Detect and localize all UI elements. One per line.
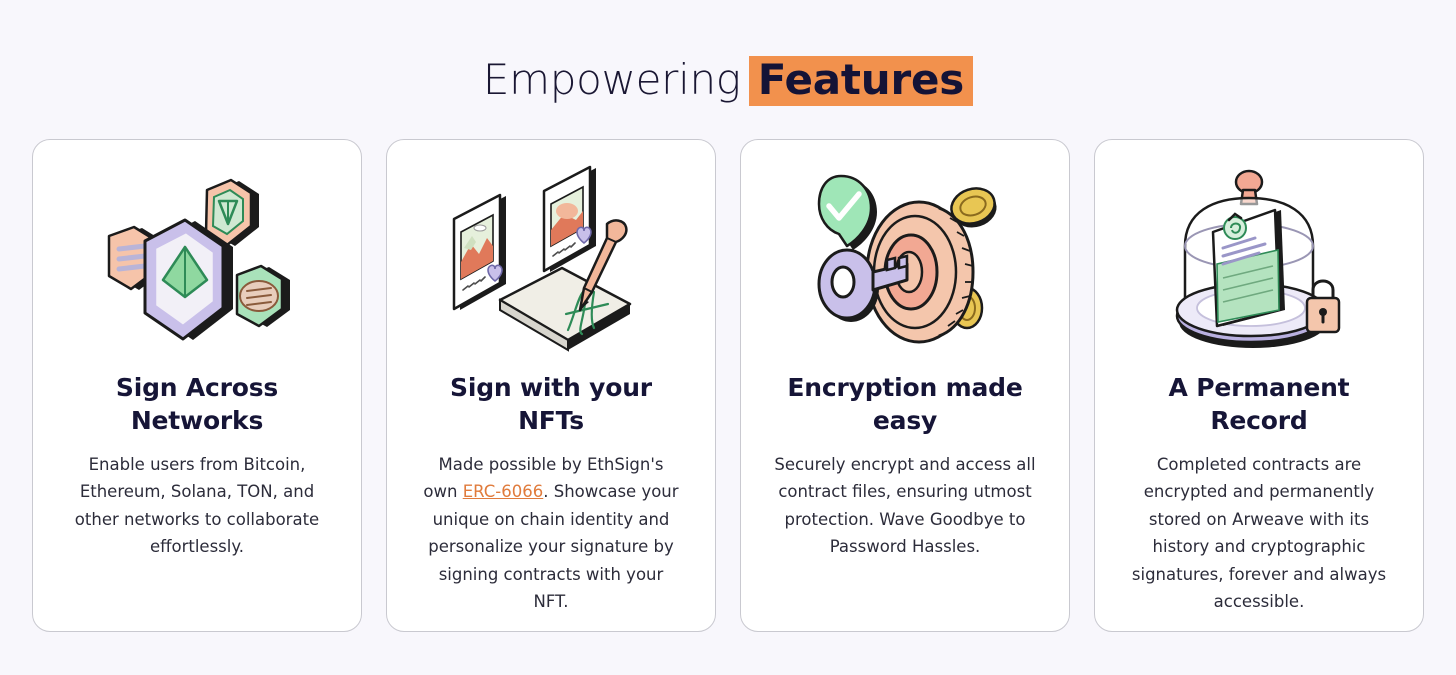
card-title: Sign with your NFTs (426, 372, 676, 437)
card-body-text: Securely encrypt and access all contract… (774, 455, 1035, 556)
feature-card-list: Sign Across Networks Enable users from B… (32, 139, 1424, 632)
feature-card[interactable]: Encryption made easy Securely encrypt an… (740, 139, 1070, 632)
erc-6066-link[interactable]: ERC-6066 (463, 482, 544, 501)
feature-card[interactable]: Sign with your NFTs Made possible by Eth… (386, 139, 716, 632)
page-title: EmpoweringFeatures (32, 0, 1424, 114)
card-body-text: Enable users from Bitcoin, Ethereum, Sol… (75, 455, 319, 556)
card-body-text: Completed contracts are encrypted and pe… (1132, 455, 1386, 611)
coin-key-lock-icon (767, 162, 1043, 362)
card-title: A Permanent Record (1134, 372, 1384, 437)
card-body: Securely encrypt and access all contract… (774, 451, 1036, 561)
nft-signature-icon (413, 162, 689, 362)
card-title: Encryption made easy (780, 372, 1030, 437)
card-body: Made possible by EthSign's own ERC-6066.… (420, 451, 682, 615)
glass-dome-document-icon (1121, 162, 1397, 362)
page-title-accent: Features (749, 56, 973, 106)
features-section: EmpoweringFeatures (0, 0, 1456, 675)
feature-card[interactable]: A Permanent Record Completed contracts a… (1094, 139, 1424, 632)
network-tokens-icon (59, 162, 335, 362)
page-title-lead: Empowering (483, 55, 741, 104)
card-body: Completed contracts are encrypted and pe… (1128, 451, 1390, 615)
card-body: Enable users from Bitcoin, Ethereum, Sol… (66, 451, 328, 561)
feature-card[interactable]: Sign Across Networks Enable users from B… (32, 139, 362, 632)
card-title: Sign Across Networks (72, 372, 322, 437)
card-body-text-after: . Showcase your unique on chain identity… (428, 482, 678, 611)
